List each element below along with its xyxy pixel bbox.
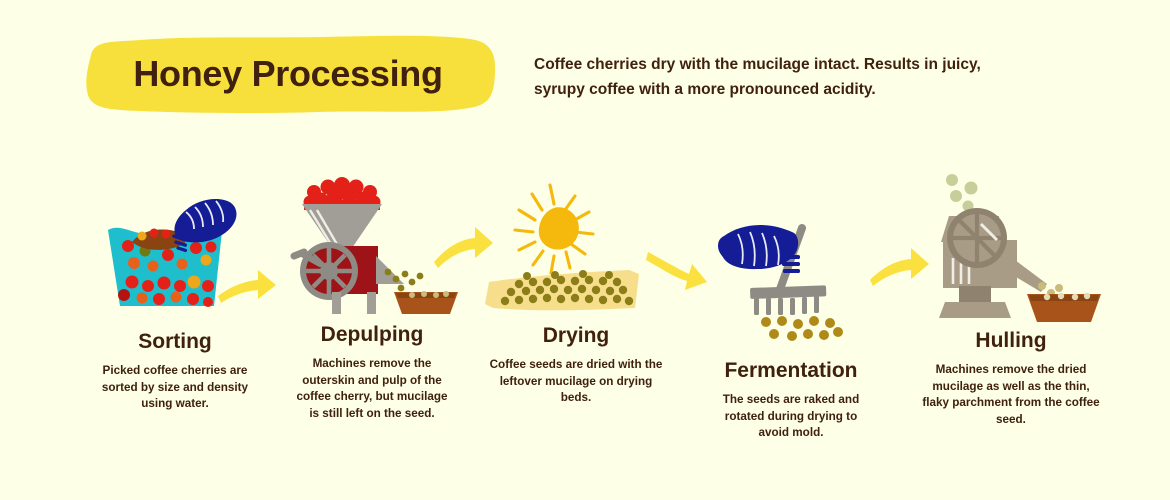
step-description-fermentation: The seeds are raked and rotated during d… [709, 392, 874, 442]
step-title-hulling: Hulling [895, 329, 1127, 353]
header: Honey Processing Coffee cherries dry wit… [0, 0, 1170, 150]
step-title-drying: Drying [462, 324, 690, 348]
gloved-hand-with-rake-icon [706, 222, 876, 352]
page-title-text: Honey Processing [78, 33, 498, 115]
step-title-fermentation: Fermentation [685, 359, 897, 383]
step-description-hulling: Machines remove the dried mucilage as we… [922, 362, 1100, 428]
step-depulping: Depulping Machines remove the outerskin … [262, 176, 482, 422]
depulping-illustration [262, 176, 482, 321]
depulping-machine-icon [272, 176, 472, 316]
page-subtitle: Coffee cherries dry with the mucilage in… [534, 52, 1034, 102]
step-fermentation: Fermentation The seeds are raked and rot… [685, 222, 897, 442]
page-title: Honey Processing [78, 33, 498, 115]
step-description-depulping: Machines remove the outerskin and pulp o… [292, 356, 452, 422]
water-tub-with-cherries-and-gloved-hand-icon [90, 198, 260, 323]
hulling-machine-icon [911, 162, 1111, 322]
fermentation-illustration [685, 222, 897, 357]
step-title-sorting: Sorting [55, 330, 295, 354]
step-sorting: Sorting Picked coffee cherries are sorte… [55, 198, 295, 413]
drying-illustration [462, 172, 690, 322]
step-description-drying: Coffee seeds are dried with the leftover… [484, 357, 669, 407]
hulling-illustration [895, 162, 1127, 327]
step-description-sorting: Picked coffee cherries are sorted by siz… [94, 363, 256, 413]
step-hulling: Hulling Machines remove the dried mucila… [895, 162, 1127, 428]
step-title-depulping: Depulping [262, 323, 482, 347]
sorting-illustration [55, 198, 295, 328]
sun-and-drying-bed-icon [471, 172, 681, 317]
step-drying: Drying Coffee seeds are dried with the l… [462, 172, 690, 407]
